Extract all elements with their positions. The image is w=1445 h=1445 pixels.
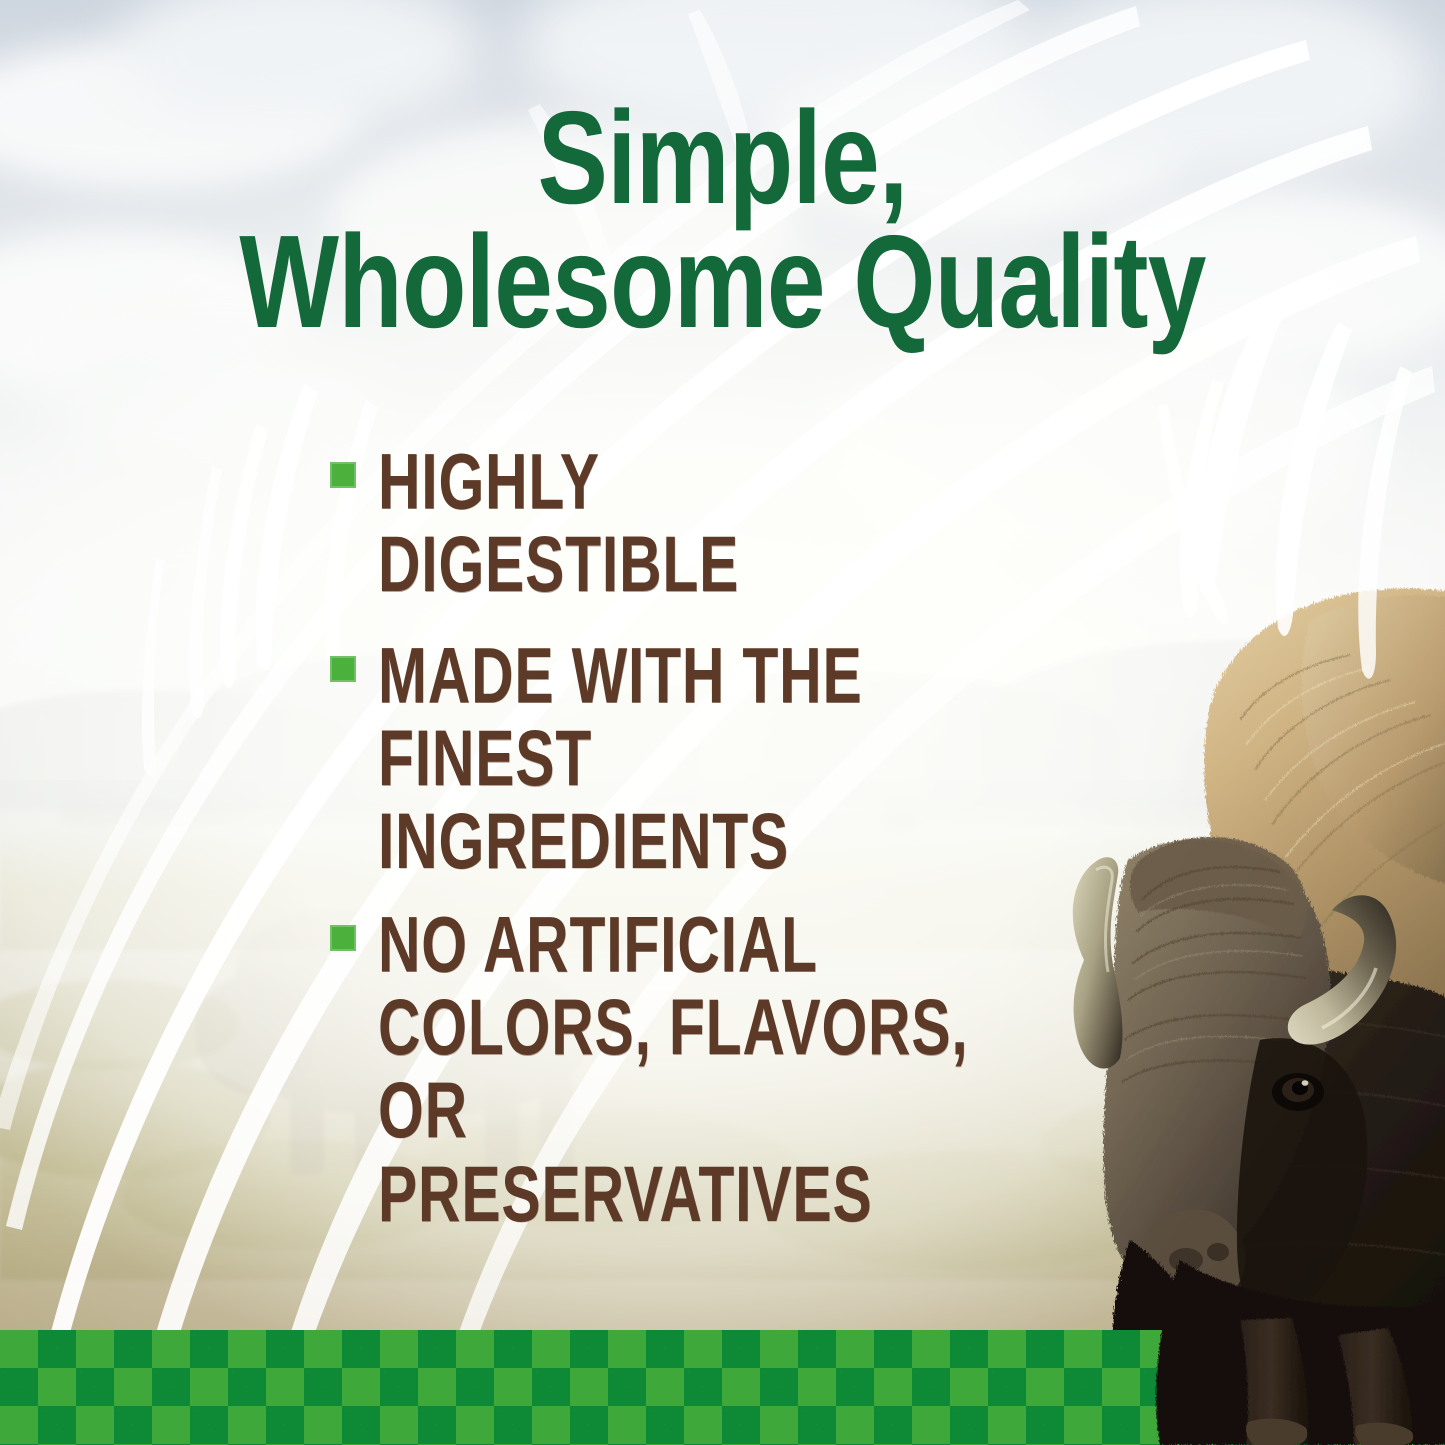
checkered-green-band — [0, 1330, 1445, 1445]
page-title: Simple, Wholesome Quality — [145, 96, 1301, 344]
square-bullet-icon — [330, 925, 356, 951]
bullet-label: NO ARTIFICIAL COLORS, FLAVORS, OR PRESER… — [378, 903, 976, 1235]
square-bullet-icon — [330, 656, 356, 682]
product-feature-poster: Simple, Wholesome Quality HIGHLY DIGESTI… — [0, 0, 1445, 1445]
headline-line-2: Wholesome Quality — [145, 220, 1301, 344]
feature-bullet-list: HIGHLY DIGESTIBLE MADE WITH THE FINEST I… — [330, 440, 1090, 1246]
list-item: HIGHLY DIGESTIBLE — [330, 440, 1090, 588]
bullet-label: MADE WITH THE FINEST INGREDIENTS — [378, 634, 976, 883]
square-bullet-icon — [330, 462, 356, 488]
list-item: NO ARTIFICIAL COLORS, FLAVORS, OR PRESER… — [330, 903, 1090, 1200]
bison-eye — [1272, 1073, 1324, 1111]
list-item: MADE WITH THE FINEST INGREDIENTS — [330, 634, 1090, 857]
bullet-label: HIGHLY DIGESTIBLE — [378, 440, 976, 606]
